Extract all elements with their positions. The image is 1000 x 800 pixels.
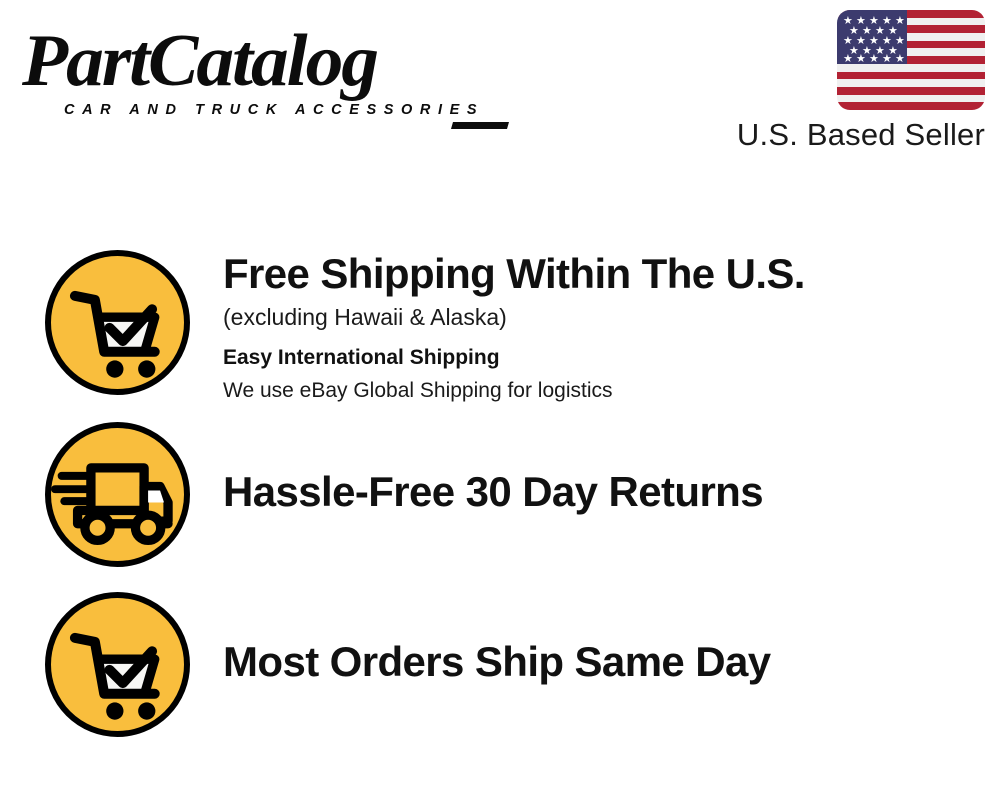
us-flag-icon: ★ ★ ★ ★ ★ ★ ★ ★ ★ ★ ★ ★ ★ ★ ★ ★ ★ ★ ★ ★ …	[837, 10, 985, 110]
brand-underline-accent	[451, 122, 509, 129]
feature-text-1: Hassle-Free 30 Day Returns	[223, 422, 963, 516]
feature-icon-2	[45, 592, 190, 737]
feature-title: Most Orders Ship Same Day	[223, 638, 963, 686]
flag-canton: ★ ★ ★ ★ ★ ★ ★ ★ ★ ★ ★ ★ ★ ★ ★ ★ ★ ★ ★ ★ …	[837, 10, 907, 64]
seller-label: U.S. Based Seller	[695, 117, 985, 153]
brand-logo: PartCatalog CAR AND TRUCK ACCESSORIES	[22, 22, 492, 118]
delivery-truck-icon	[45, 422, 190, 567]
feature-text-2: Most Orders Ship Same Day	[223, 592, 963, 686]
shopping-cart-check-icon	[45, 592, 190, 737]
feature-title: Free Shipping Within The U.S.	[223, 250, 963, 298]
feature-text-0: Free Shipping Within The U.S. (excluding…	[223, 250, 963, 407]
feature-icon-1	[45, 422, 190, 567]
feature-note: (excluding Hawaii & Alaska)	[223, 300, 963, 334]
shopping-cart-check-icon	[45, 250, 190, 395]
feature-subtitle: We use eBay Global Shipping for logistic…	[223, 375, 963, 407]
feature-title: Hassle-Free 30 Day Returns	[223, 468, 963, 516]
feature-icon-0	[45, 250, 190, 395]
feature-subtitle-strong: Easy International Shipping	[223, 342, 963, 374]
brand-wordmark: PartCatalog	[22, 22, 501, 100]
brand-tagline: CAR AND TRUCK ACCESSORIES	[64, 102, 484, 118]
us-based-seller-badge: ★ ★ ★ ★ ★ ★ ★ ★ ★ ★ ★ ★ ★ ★ ★ ★ ★ ★ ★ ★ …	[695, 10, 985, 153]
